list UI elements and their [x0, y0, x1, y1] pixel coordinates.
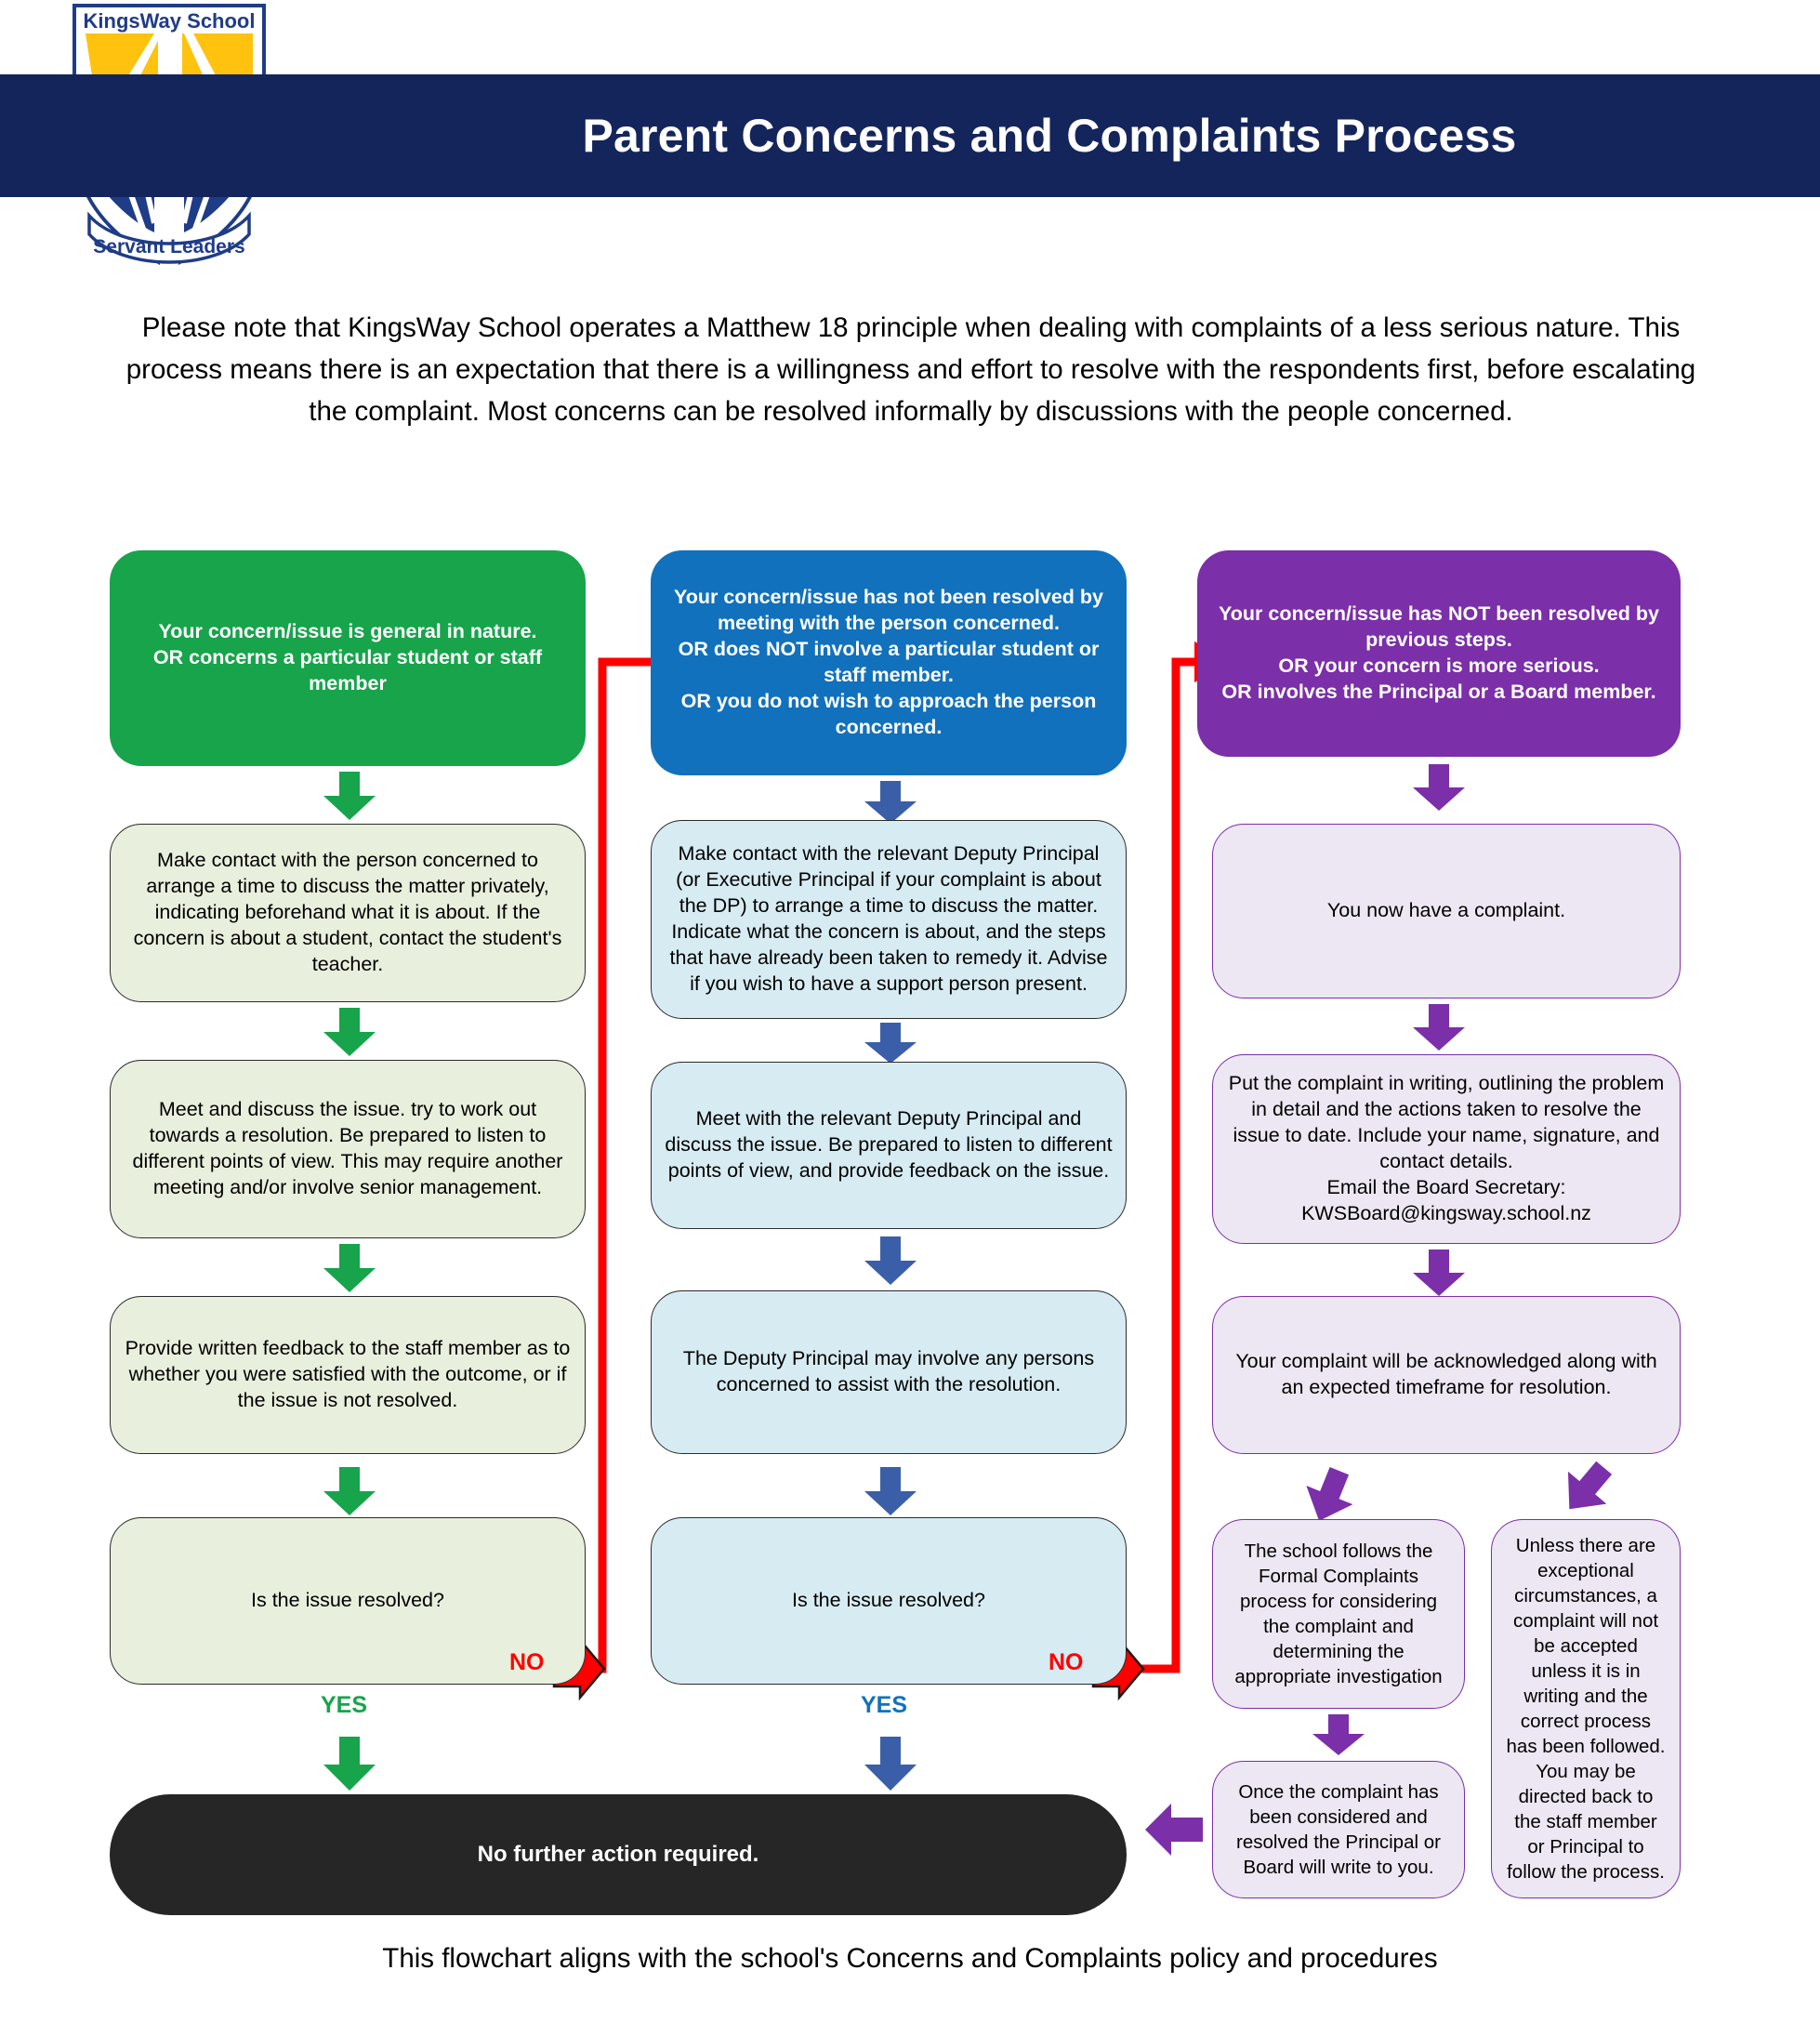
- column-3-branch-left-next-box: Once the complaint has been considered a…: [1212, 1761, 1465, 1898]
- column-2-step-1-box: Make contact with the relevant Deputy Pr…: [651, 820, 1127, 1019]
- column-1-no-label: NO: [509, 1649, 545, 1676]
- arrow-down-green-4: [323, 1467, 376, 1515]
- arrow-down-purple-1: [1413, 764, 1465, 811]
- column-3-branch-right-box: Unless there are exceptional circumstanc…: [1491, 1519, 1681, 1898]
- arrow-down-green-2: [323, 1008, 376, 1056]
- arrow-down-blue-1: [864, 781, 917, 824]
- arrow-branch-right-purple: [1554, 1460, 1619, 1517]
- arrow-down-blue-yes: [864, 1737, 917, 1791]
- arrow-down-green-yes: [323, 1737, 376, 1791]
- column-3-step-2-box: Put the complaint in writing, outlining …: [1212, 1054, 1681, 1244]
- arrow-left-purple-to-terminal: [1145, 1804, 1203, 1856]
- arrow-down-blue-4: [864, 1467, 917, 1515]
- column-2-step-2-box: Meet with the relevant Deputy Principal …: [651, 1062, 1127, 1229]
- column-3-header-box: Your concern/issue has NOT been resolved…: [1197, 550, 1681, 757]
- arrow-down-blue-3: [864, 1236, 917, 1285]
- arrow-down-purple-3: [1413, 1249, 1465, 1296]
- page-title: Parent Concerns and Complaints Process: [279, 74, 1820, 197]
- column-2-header-box: Your concern/issue has not been resolved…: [651, 550, 1127, 775]
- column-3-step-1-box: You now have a complaint.: [1212, 824, 1681, 998]
- logo-school-name: KingsWay School: [58, 9, 281, 33]
- footer-note: This flowchart aligns with the school's …: [0, 1943, 1820, 1975]
- column-1-yes-label: YES: [321, 1692, 367, 1719]
- terminal-no-further-action: No further action required.: [110, 1794, 1127, 1915]
- arrow-down-green-1: [323, 772, 376, 820]
- column-1-step-3-box: Provide written feedback to the staff me…: [110, 1296, 586, 1454]
- column-2-step-3-box: The Deputy Principal may involve any per…: [651, 1290, 1127, 1454]
- column-2-no-label: NO: [1048, 1649, 1084, 1676]
- column-3-step-3-box: Your complaint will be acknowledged alon…: [1212, 1296, 1681, 1454]
- terminal-label: No further action required.: [478, 1842, 759, 1868]
- column-2-yes-label: YES: [861, 1692, 907, 1719]
- column-1-header-box: Your concern/issue is general in nature.…: [110, 550, 586, 766]
- column-1-step-1-box: Make contact with the person concerned t…: [110, 824, 586, 1002]
- arrow-down-purple-4: [1312, 1714, 1365, 1755]
- column-3-branch-left-box: The school follows the Formal Complaints…: [1212, 1519, 1465, 1709]
- arrow-branch-left-purple: [1297, 1467, 1362, 1525]
- arrow-down-blue-2: [864, 1023, 917, 1064]
- arrow-down-green-3: [323, 1244, 376, 1292]
- arrow-down-purple-2: [1413, 1004, 1465, 1051]
- column-1-step-2-box: Meet and discuss the issue. try to work …: [110, 1060, 586, 1238]
- logo-motto-text: Servant Leaders: [93, 236, 244, 258]
- intro-paragraph: Please note that KingsWay School operate…: [112, 307, 1710, 432]
